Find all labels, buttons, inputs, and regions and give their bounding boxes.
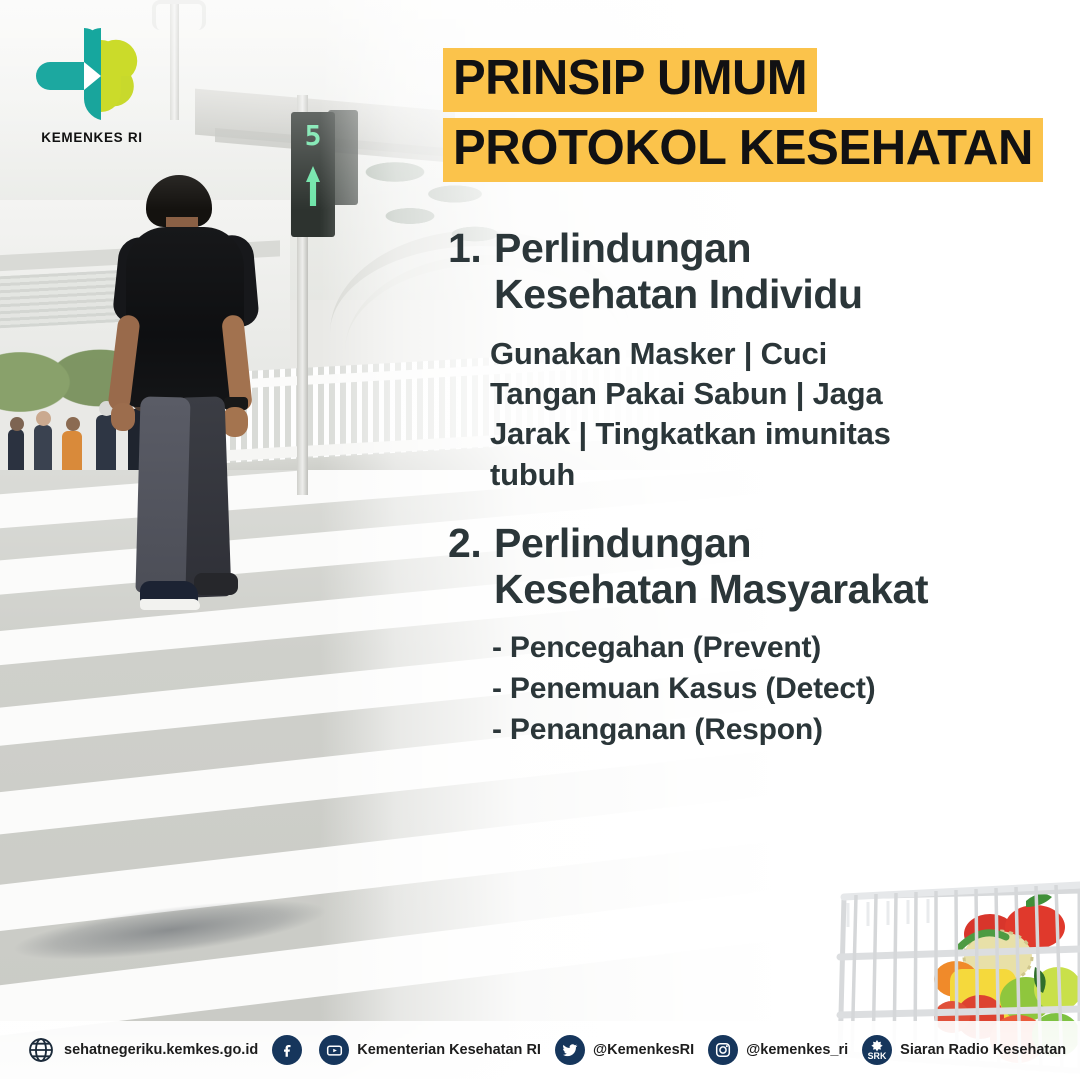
logo-caption: KEMENKES RI bbox=[32, 130, 152, 145]
bullet-item: - Penanganan (Respon) bbox=[492, 709, 1068, 750]
footer-instagram-label: @kemenkes_ri bbox=[746, 1042, 848, 1058]
bullet-item: - Penemuan Kasus (Detect) bbox=[492, 668, 1068, 709]
footer-website[interactable]: sehatnegeriku.kemkes.go.id bbox=[26, 1035, 258, 1065]
section-1-body: Gunakan Masker | Cuci Tangan Pakai Sabun… bbox=[490, 334, 1068, 495]
footer-website-label: sehatnegeriku.kemkes.go.id bbox=[64, 1042, 258, 1058]
youtube-icon bbox=[319, 1035, 349, 1065]
section-1-body-line3: Jarak | Tingkatkan imunitas bbox=[490, 416, 891, 451]
section-2-title-line1: Perlindungan bbox=[494, 520, 751, 566]
section-1-body-line4: tubuh bbox=[490, 457, 575, 492]
pedestrian-shoe-sole bbox=[140, 599, 200, 610]
footer-facebook[interactable] bbox=[272, 1035, 310, 1065]
footer-twitter-label: @KemenkesRI bbox=[593, 1042, 694, 1058]
title-line-1: PRINSIP UMUM bbox=[443, 48, 817, 112]
facebook-icon bbox=[272, 1035, 302, 1065]
bullet-item: - Pencegahan (Prevent) bbox=[492, 627, 1068, 668]
pedestrian-hand-left bbox=[111, 403, 135, 431]
section-1: 1. Perlindungan Kesehatan Individu Gunak… bbox=[448, 226, 1068, 495]
kemenkes-flower-logo-icon bbox=[32, 18, 152, 130]
poster-title: PRINSIP UMUM PROTOKOL KESEHATAN bbox=[443, 48, 1063, 188]
twitter-icon bbox=[555, 1035, 585, 1065]
footer-youtube[interactable]: Kementerian Kesehatan RI bbox=[319, 1035, 541, 1065]
globe-icon bbox=[26, 1035, 56, 1065]
footer-bar: sehatnegeriku.kemkes.go.id Kementerian K… bbox=[0, 1021, 1080, 1079]
walking-pedestrian bbox=[110, 175, 295, 645]
title-line-2: PROTOKOL KESEHATAN bbox=[443, 118, 1043, 182]
pedestrian-hand-right bbox=[222, 407, 248, 437]
section-2-bullet-list: - Pencegahan (Prevent) - Penemuan Kasus … bbox=[492, 627, 1068, 750]
section-2-title: Perlindungan Kesehatan Masyarakat bbox=[494, 521, 1068, 613]
srk-icon: SRK bbox=[862, 1035, 892, 1065]
section-2: 2. Perlindungan Kesehatan Masyarakat - P… bbox=[448, 521, 1068, 750]
footer-youtube-label: Kementerian Kesehatan RI bbox=[357, 1042, 541, 1058]
section-1-title: Perlindungan Kesehatan Individu bbox=[494, 226, 1068, 318]
section-1-heading: 1. Perlindungan Kesehatan Individu bbox=[448, 226, 1068, 318]
pedestrian-leg-left bbox=[135, 396, 190, 593]
section-2-title-line2: Kesehatan Masyarakat bbox=[494, 566, 928, 612]
poster-content: 1. Perlindungan Kesehatan Individu Gunak… bbox=[448, 226, 1068, 756]
footer-srk-label: Siaran Radio Kesehatan bbox=[900, 1042, 1066, 1058]
section-1-body-line2: Tangan Pakai Sabun | Jaga bbox=[490, 376, 882, 411]
pedestrian-shoe-right bbox=[194, 573, 238, 595]
instagram-icon bbox=[708, 1035, 738, 1065]
section-1-number: 1. bbox=[448, 226, 494, 272]
kemenkes-logo: KEMENKES RI bbox=[32, 18, 152, 153]
infographic-poster: 5 bbox=[0, 0, 1080, 1079]
footer-instagram[interactable]: @kemenkes_ri bbox=[708, 1035, 848, 1065]
footer-twitter[interactable]: @KemenkesRI bbox=[555, 1035, 694, 1065]
footer-srk[interactable]: SRK Siaran Radio Kesehatan bbox=[862, 1035, 1066, 1065]
section-1-title-line1: Perlindungan bbox=[494, 225, 751, 271]
section-1-title-line2: Kesehatan Individu bbox=[494, 271, 863, 317]
section-1-body-line1: Gunakan Masker | Cuci bbox=[490, 336, 827, 371]
svg-text:SRK: SRK bbox=[868, 1051, 887, 1061]
section-2-number: 2. bbox=[448, 521, 494, 567]
section-2-heading: 2. Perlindungan Kesehatan Masyarakat bbox=[448, 521, 1068, 613]
